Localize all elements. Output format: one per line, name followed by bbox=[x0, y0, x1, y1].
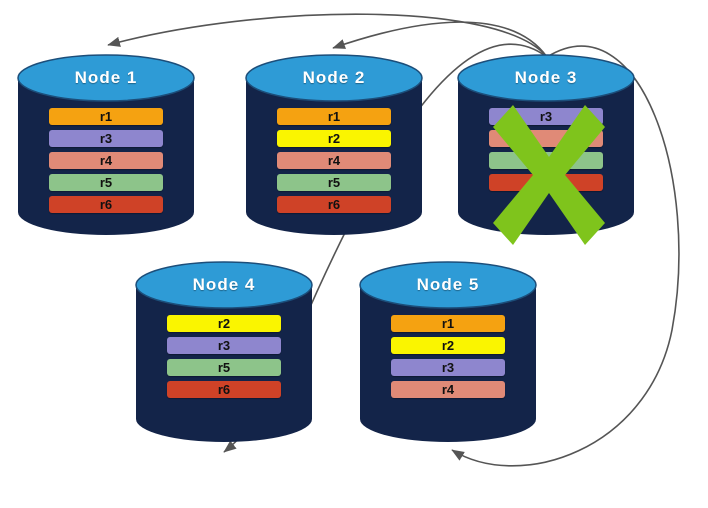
replica-bar[interactable]: r2 bbox=[277, 130, 391, 147]
replica-bar[interactable]: r5 bbox=[167, 359, 281, 376]
cylinder-top bbox=[246, 55, 422, 101]
replica-bar[interactable]: r1 bbox=[277, 108, 391, 125]
replica-label: r2 bbox=[442, 339, 454, 352]
replica-bar[interactable]: r4 bbox=[391, 381, 505, 398]
replica-label: r5 bbox=[100, 176, 112, 189]
replica-label: r3 bbox=[442, 361, 454, 374]
replica-bar[interactable]: r3 bbox=[489, 108, 603, 125]
replica-list: r1r3r4r5r6 bbox=[18, 108, 194, 218]
arrow-node3-to-node2 bbox=[333, 22, 547, 57]
replica-label: r1 bbox=[328, 110, 340, 123]
replica-label: r3 bbox=[540, 110, 552, 123]
replica-label: r3 bbox=[100, 132, 112, 145]
replica-label: r4 bbox=[442, 383, 454, 396]
replica-bar[interactable] bbox=[489, 174, 603, 191]
cylinder-top bbox=[458, 55, 634, 101]
replica-label: r1 bbox=[100, 110, 112, 123]
replica-bar[interactable]: r3 bbox=[391, 359, 505, 376]
replica-label: r6 bbox=[328, 198, 340, 211]
replica-bar[interactable]: r6 bbox=[49, 196, 163, 213]
node-5[interactable]: Node 5r1r2r3r4 bbox=[360, 262, 536, 442]
cylinder-top bbox=[136, 262, 312, 308]
replica-bar[interactable] bbox=[489, 152, 603, 169]
node-4[interactable]: Node 4r2r3r5r6 bbox=[136, 262, 312, 442]
replica-label: r1 bbox=[442, 317, 454, 330]
cylinder-top bbox=[360, 262, 536, 308]
replica-label: r5 bbox=[218, 361, 230, 374]
replica-bar[interactable]: r6 bbox=[167, 381, 281, 398]
replica-bar[interactable]: r4 bbox=[277, 152, 391, 169]
replica-bar[interactable] bbox=[489, 130, 603, 147]
replica-label: r2 bbox=[218, 317, 230, 330]
replica-bar[interactable]: r6 bbox=[277, 196, 391, 213]
replica-bar[interactable]: r5 bbox=[49, 174, 163, 191]
replica-label: r6 bbox=[100, 198, 112, 211]
cylinder-top bbox=[18, 55, 194, 101]
replica-list: r3 bbox=[458, 108, 634, 196]
node-3[interactable]: Node 3r3 bbox=[458, 55, 634, 235]
replica-label: r2 bbox=[328, 132, 340, 145]
replica-label: r5 bbox=[328, 176, 340, 189]
replica-label: r3 bbox=[218, 339, 230, 352]
replica-label: r4 bbox=[328, 154, 340, 167]
replica-bar[interactable]: r1 bbox=[49, 108, 163, 125]
diagram-canvas: Node 1r1r3r4r5r6Node 2r1r2r4r5r6Node 3r3… bbox=[0, 0, 708, 508]
replica-label: r4 bbox=[100, 154, 112, 167]
replica-bar[interactable]: r3 bbox=[49, 130, 163, 147]
node-1[interactable]: Node 1r1r3r4r5r6 bbox=[18, 55, 194, 235]
replica-bar[interactable]: r5 bbox=[277, 174, 391, 191]
replica-bar[interactable]: r3 bbox=[167, 337, 281, 354]
replica-bar[interactable]: r4 bbox=[49, 152, 163, 169]
node-2[interactable]: Node 2r1r2r4r5r6 bbox=[246, 55, 422, 235]
replica-label: r6 bbox=[218, 383, 230, 396]
arrow-node3-to-node1 bbox=[108, 14, 547, 57]
replica-list: r1r2r4r5r6 bbox=[246, 108, 422, 218]
replica-list: r2r3r5r6 bbox=[136, 315, 312, 403]
replica-list: r1r2r3r4 bbox=[360, 315, 536, 403]
replica-bar[interactable]: r2 bbox=[167, 315, 281, 332]
replica-bar[interactable]: r2 bbox=[391, 337, 505, 354]
replica-bar[interactable]: r1 bbox=[391, 315, 505, 332]
